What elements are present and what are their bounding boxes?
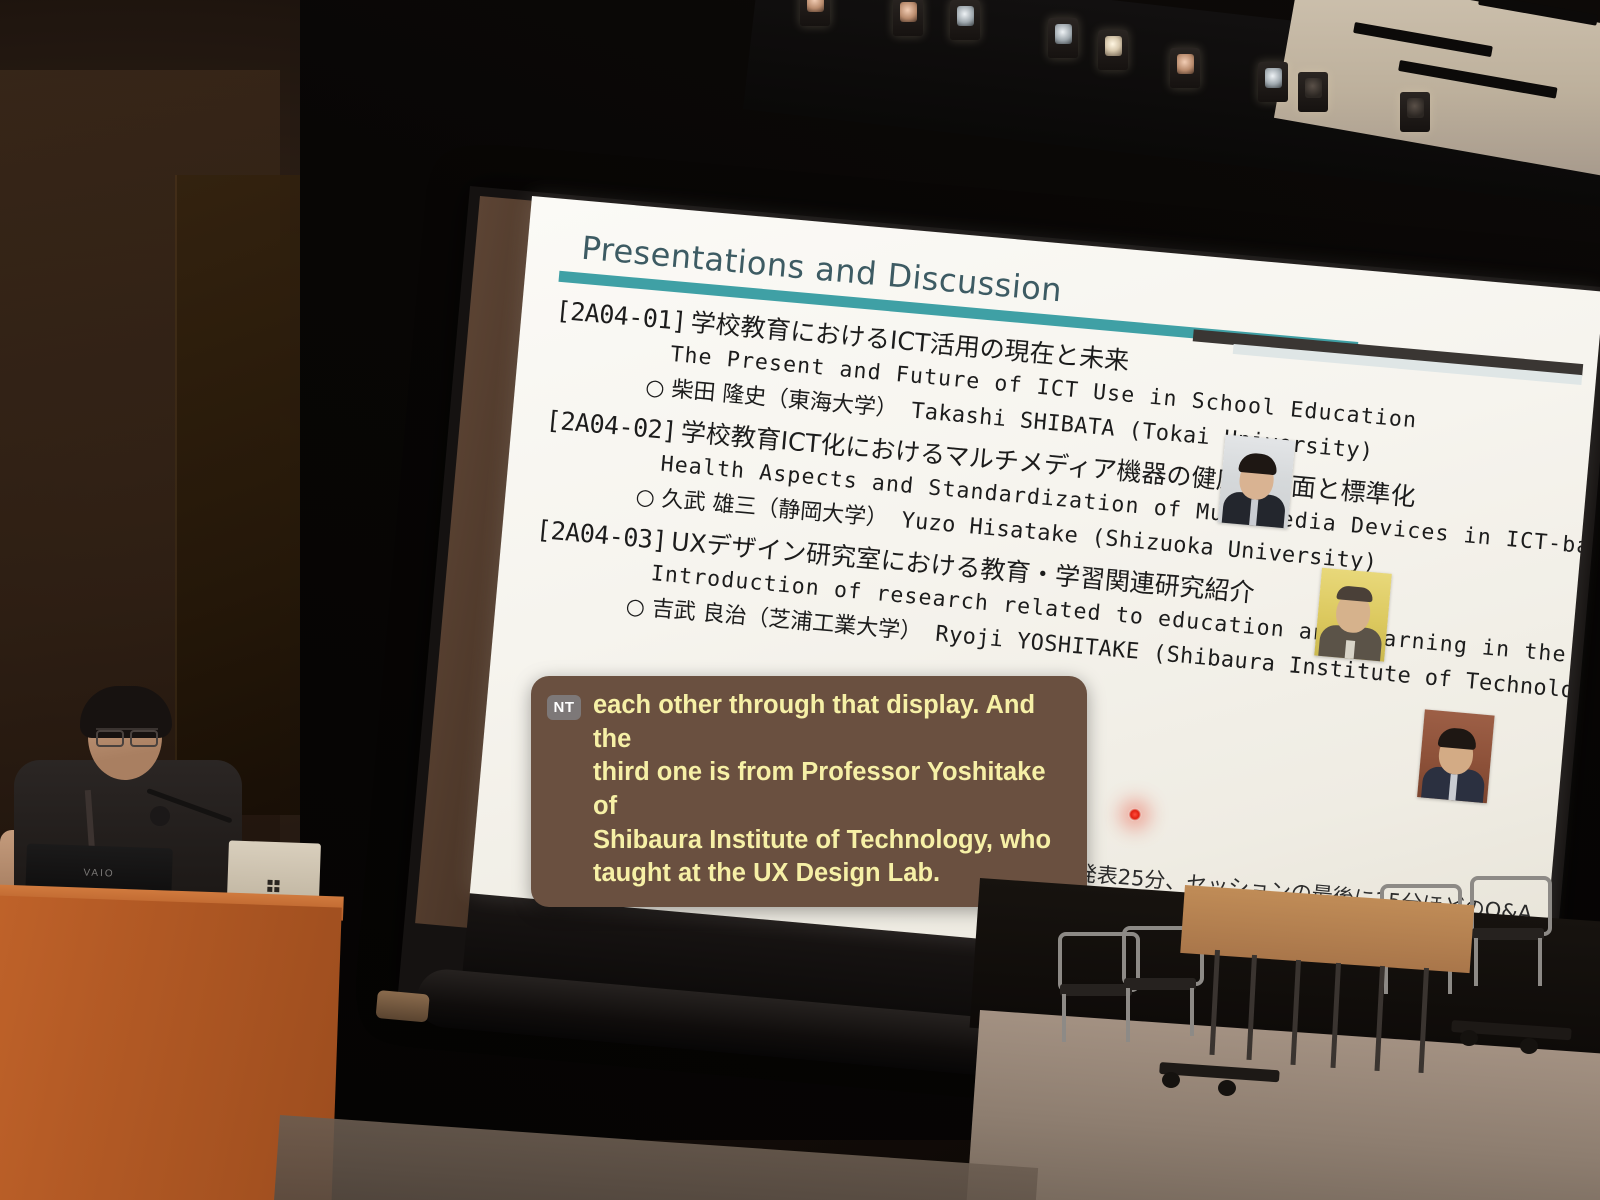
headshot-hair [1438,727,1478,750]
headshot-hair [1238,452,1278,475]
headshot-yoshitake [1417,709,1495,803]
ceiling-spotlight [1298,72,1328,112]
scene-root: Presentations and Discussion [2A04-01] 学… [0,0,1600,1200]
ceiling-spotlight [1098,30,1128,70]
table-caster [1460,1030,1478,1046]
table-caster [1520,1038,1538,1054]
table-caster [1218,1080,1236,1096]
caption-line: Shibaura Institute of Technology, who [593,824,1067,858]
microphone-capsule [150,806,170,826]
caption-text: each other through that display. And the… [593,689,1067,891]
chair [1470,876,1548,984]
caption-line: each other through that display. And the [593,689,1067,756]
chair-seat [1124,978,1196,990]
entry-id: [2A04-03] [535,515,668,556]
table-caster [1162,1072,1180,1088]
chair-leg [1062,994,1066,1042]
ceiling-spotlight [1048,18,1078,58]
chair-leg [1126,988,1130,1036]
ceiling-spotlight [1400,92,1430,132]
chair-back [1470,876,1552,936]
caption-line: third one is from Professor Yoshitake of [593,756,1067,823]
headshot-tie [1345,640,1356,659]
screen-roller-cap [376,990,430,1023]
headshot-shibata [1218,435,1296,529]
ceiling-spotlight [893,0,923,36]
chair-leg [1190,988,1194,1036]
chair-leg [1474,938,1478,986]
entry-id: [2A04-01] [555,296,688,337]
chair-seat [1472,928,1544,940]
chair-leg [1538,938,1542,986]
glasses-icon [96,728,158,745]
caption-row: NT each other through that display. And … [547,689,1067,891]
ceiling-spotlight [1258,62,1288,102]
laptop-brand-mark: VAIO [83,867,115,879]
ceiling-spotlight [800,0,830,26]
tablet-logo-icon [267,880,279,892]
tablet [227,840,321,899]
ceiling-spotlight [1170,48,1200,88]
headshot-hisatake [1314,568,1392,662]
entry-id: [2A04-02] [545,405,678,446]
caption-source-badge: NT [547,695,581,720]
laser-pointer-dot [1128,807,1142,821]
ceiling-spotlight [950,0,980,40]
live-caption-overlay: NT each other through that display. And … [531,676,1087,907]
